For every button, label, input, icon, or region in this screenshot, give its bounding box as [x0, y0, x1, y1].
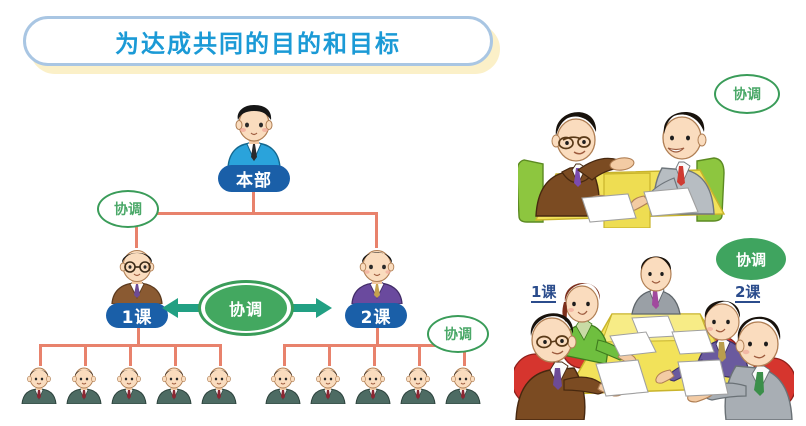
node-division-2[interactable]: 2课	[345, 303, 407, 328]
staff-icon	[110, 366, 148, 404]
node-division-2-label: 2课	[361, 303, 392, 328]
diagram-canvas: 为达成共同的目的和目标	[0, 0, 806, 426]
connector-staff-right-3	[373, 344, 376, 366]
page-title: 为达成共同的目的和目标	[115, 24, 401, 59]
staff-icon	[444, 366, 482, 404]
staff-icon	[200, 366, 238, 404]
connector-staff-left-2	[84, 344, 87, 366]
coordination-badge-center[interactable]: 协调	[198, 280, 294, 336]
coordination-badge-upper-left[interactable]: 协调	[97, 190, 159, 228]
coordination-arrow-right	[288, 296, 334, 320]
staff-icon	[65, 366, 103, 404]
coordination-label: 协调	[229, 296, 263, 320]
connector-staff-left-1	[39, 344, 42, 366]
connector-staff-left-4	[174, 344, 177, 366]
title-banner: 为达成共同的目的和目标	[23, 16, 493, 66]
illustration-dept-label-2: 2课	[735, 283, 760, 303]
connector-division-2-down	[376, 328, 379, 344]
coordination-label: 协调	[733, 84, 761, 104]
coordination-label: 协调	[444, 324, 472, 344]
node-division-1-label: 1课	[122, 303, 153, 328]
connector-staff-left-5	[219, 344, 222, 366]
staff-icon	[354, 366, 392, 404]
connector-division-1-down	[137, 328, 140, 344]
node-headquarters-label: 本部	[236, 166, 272, 191]
connector-staff-right-2	[328, 344, 331, 366]
staff-icon	[399, 366, 437, 404]
staff-icon	[309, 366, 347, 404]
division-1-person-figure	[108, 246, 166, 304]
connector-staff-left-3	[129, 344, 132, 366]
staff-icon	[264, 366, 302, 404]
connector-staff-right-1	[283, 344, 286, 366]
connector-hq-down	[252, 192, 255, 214]
staff-icon	[20, 366, 58, 404]
coordination-ring-inner: 协调	[205, 285, 287, 331]
coordination-badge-lower-right[interactable]: 协调	[427, 315, 489, 353]
node-headquarters[interactable]: 本部	[218, 165, 290, 192]
illustration-two-people-meeting	[518, 88, 738, 228]
coordination-badge-bottom-right[interactable]: 协调	[716, 238, 786, 280]
staff-icon	[155, 366, 193, 404]
coordination-label: 协调	[114, 199, 142, 219]
connector-staff-right-4	[418, 344, 421, 366]
division-2-person-figure	[348, 246, 406, 304]
node-division-1[interactable]: 1课	[106, 303, 168, 328]
connector-divisions-horizontal	[135, 212, 375, 215]
illustration-dept-label-1: 1课	[531, 283, 556, 303]
coordination-label: 协调	[736, 249, 766, 270]
coordination-badge-top-right[interactable]: 协调	[714, 74, 780, 114]
connector-to-division-2	[375, 212, 378, 248]
headquarters-person-figure	[222, 102, 286, 168]
